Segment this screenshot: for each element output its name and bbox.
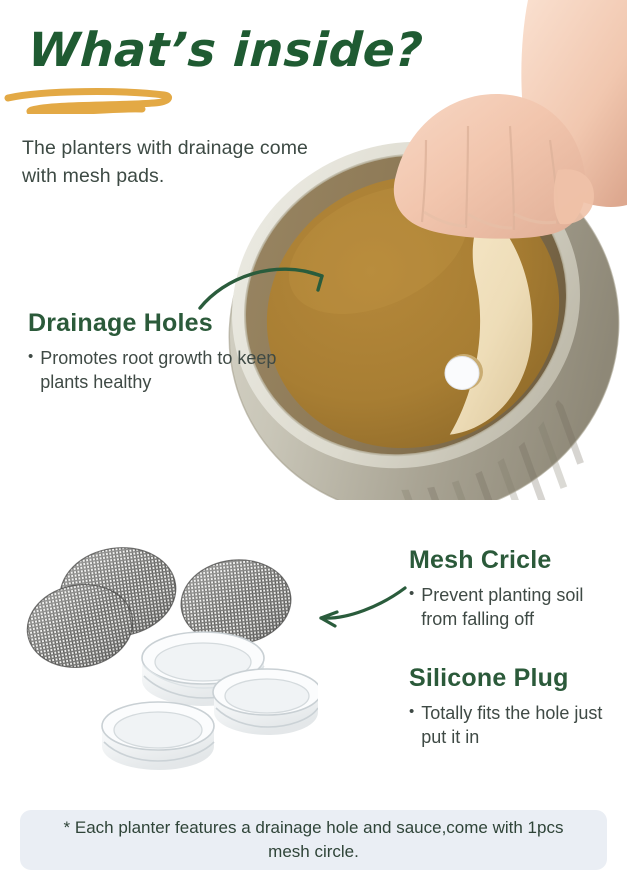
silicone-plug-bottom: [102, 702, 214, 770]
parts-illustration: [18, 530, 318, 780]
drainage-heading: Drainage Holes: [28, 309, 288, 338]
bullet-dot-icon: •: [409, 583, 414, 606]
drainage-bullet: • Promotes root growth to keep plants he…: [28, 346, 288, 394]
bullet-dot-icon: •: [409, 701, 414, 724]
curved-arrow-left-icon: [311, 578, 411, 638]
footer-note-text: * Each planter features a drainage hole …: [46, 816, 581, 864]
plug-bullet-text: Totally fits the hole just put it in: [421, 701, 619, 749]
hand-photo: [394, 0, 627, 239]
infographic-page: What’s inside? The planters with drainag…: [0, 0, 627, 879]
mesh-circles-and-silicone-plugs-photo: [18, 530, 318, 780]
plug-heading: Silicone Plug: [409, 664, 619, 693]
section-silicone-plug: Silicone Plug • Totally fits the hole ju…: [409, 664, 619, 749]
silicone-plug-right: [213, 669, 318, 735]
mesh-heading: Mesh Cricle: [409, 546, 614, 575]
footer-note-box: * Each planter features a drainage hole …: [20, 810, 607, 870]
section-drainage-holes: Drainage Holes • Promotes root growth to…: [28, 309, 288, 394]
section-mesh-circle: Mesh Cricle • Prevent planting soil from…: [409, 546, 614, 631]
mesh-bullet-text: Prevent planting soil from falling off: [421, 583, 614, 631]
bullet-dot-icon: •: [28, 346, 33, 369]
drainage-bullet-text: Promotes root growth to keep plants heal…: [40, 346, 288, 394]
brush-underline-icon: [4, 88, 184, 114]
subtitle: The planters with drainage come with mes…: [22, 134, 322, 191]
plug-bullet: • Totally fits the hole just put it in: [409, 701, 619, 749]
title-block: What’s inside?: [28, 26, 358, 75]
mesh-bullet: • Prevent planting soil from falling off: [409, 583, 614, 631]
page-title: What’s inside?: [27, 26, 360, 75]
white-circular-drainage-hole: [445, 354, 483, 390]
